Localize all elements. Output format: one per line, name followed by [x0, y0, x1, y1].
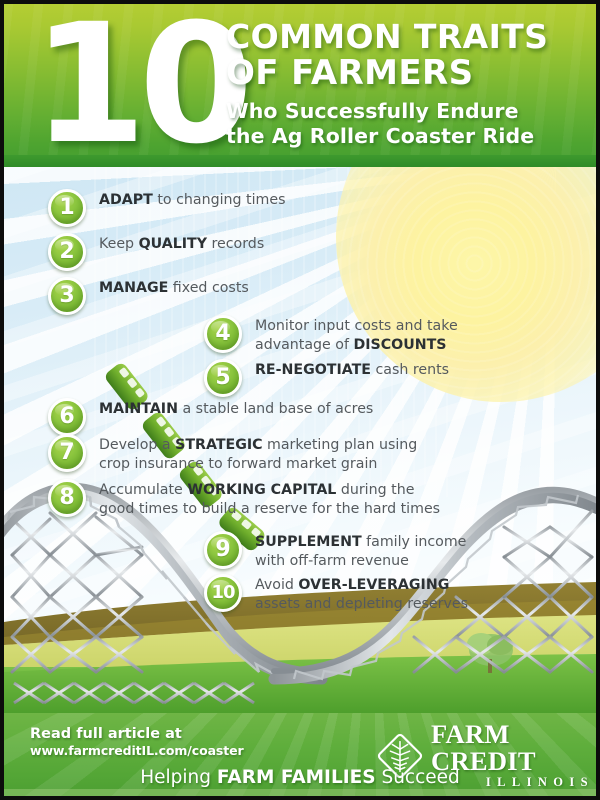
trait-number-badge-10: 10 [204, 574, 242, 612]
trait-words: with off-farm revenue [255, 553, 409, 569]
tagline-bold: FARM FAMILIES [217, 767, 376, 788]
trait-text-line: assets and depleting reserves [255, 595, 468, 614]
trait-words: during the [336, 482, 414, 498]
trait-words: Monitor input costs and take [255, 318, 458, 334]
poster-header: 10 COMMON TRAITS OF FARMERS Who Successf… [4, 4, 596, 167]
trait-keyword: ADAPT [99, 192, 153, 208]
big-number-ten: 10 [32, 4, 246, 167]
trait-number-badge-1: 1 [48, 189, 86, 227]
trait-words: good times to build a reserve for the ha… [99, 501, 440, 517]
trait-text-5: RE-NEGOTIATE cash rents [255, 359, 449, 380]
page-subtitle-line2: the Ag Roller Coaster Ride [226, 124, 586, 149]
trait-item-5: 5RE-NEGOTIATE cash rents [204, 359, 449, 397]
trait-keyword: DISCOUNTS [353, 337, 446, 353]
tagline: Helping FARM FAMILIES Succeed [4, 767, 596, 788]
trait-item-7: 7Develop a STRATEGIC marketing plan usin… [48, 434, 417, 473]
trait-number-badge-7: 7 [48, 434, 86, 472]
trait-words: family income [362, 534, 467, 550]
trait-number-badge-5: 5 [204, 359, 242, 397]
trait-text-line: Accumulate WORKING CAPITAL during the [99, 481, 440, 500]
trait-number-badge-3: 3 [48, 277, 86, 315]
trait-number-badge-2: 2 [48, 233, 86, 271]
trait-text-3: MANAGE fixed costs [99, 277, 249, 298]
trait-item-6: 6MAINTAIN a stable land base of acres [48, 398, 373, 436]
trait-words: Accumulate [99, 482, 187, 498]
trait-text-line: ADAPT to changing times [99, 191, 285, 210]
page-title-line2: OF FARMERS [226, 55, 586, 92]
trait-text-line: Develop a STRATEGIC marketing plan using [99, 436, 417, 455]
trait-item-1: 1ADAPT to changing times [48, 189, 285, 227]
trait-text-line: Monitor input costs and take [255, 317, 458, 336]
trait-text-6: MAINTAIN a stable land base of acres [99, 398, 373, 419]
trait-words: Develop a [99, 437, 175, 453]
trait-text-7: Develop a STRATEGIC marketing plan using… [99, 434, 417, 473]
trait-text-9: SUPPLEMENT family incomewith off-farm re… [255, 531, 466, 570]
trait-text-line: crop insurance to forward market grain [99, 455, 417, 474]
trait-keyword: MANAGE [99, 280, 168, 296]
poster-footer: Read full article at www.farmcreditIL.co… [4, 713, 596, 796]
trait-words: to changing times [153, 192, 286, 208]
page-subtitle-line1: Who Successfully Endure [226, 99, 586, 124]
trait-text-line: RE-NEGOTIATE cash rents [255, 361, 449, 380]
trait-text-10: Avoid OVER-LEVERAGINGassets and depletin… [255, 574, 468, 613]
trait-words: a stable land base of acres [178, 401, 373, 417]
trait-text-line: advantage of DISCOUNTS [255, 336, 458, 355]
trait-words: cash rents [371, 362, 449, 378]
trait-words: Avoid [255, 577, 298, 593]
trait-words: assets and depleting reserves [255, 596, 468, 612]
trait-keyword: QUALITY [139, 236, 207, 252]
trait-words: records [207, 236, 264, 252]
trait-keyword: SUPPLEMENT [255, 534, 362, 550]
trait-text-line: good times to build a reserve for the ha… [99, 500, 440, 519]
tagline-suffix: Succeed [376, 767, 460, 788]
trait-item-2: 2Keep QUALITY records [48, 233, 264, 271]
trait-keyword: STRATEGIC [175, 437, 262, 453]
trait-keyword: MAINTAIN [99, 401, 178, 417]
trait-words: crop insurance to forward market grain [99, 456, 377, 472]
trait-text-4: Monitor input costs and takeadvantage of… [255, 315, 458, 354]
trait-words: fixed costs [168, 280, 248, 296]
trait-keyword: RE-NEGOTIATE [255, 362, 371, 378]
trait-text-line: MANAGE fixed costs [99, 279, 249, 298]
article-url-link[interactable]: www.farmcreditIL.com/coaster [30, 743, 244, 759]
trait-text-2: Keep QUALITY records [99, 233, 264, 254]
infographic-poster: 10 COMMON TRAITS OF FARMERS Who Successf… [0, 0, 600, 800]
trait-keyword: OVER-LEVERAGING [298, 577, 449, 593]
tagline-prefix: Helping [140, 767, 217, 788]
trait-number-badge-4: 4 [204, 315, 242, 353]
read-article-block[interactable]: Read full article at www.farmcreditIL.co… [30, 726, 244, 759]
poster-body: 1ADAPT to changing times2Keep QUALITY re… [4, 167, 596, 713]
trait-text-line: MAINTAIN a stable land base of acres [99, 400, 373, 419]
trait-words: advantage of [255, 337, 353, 353]
trait-words: marketing plan using [263, 437, 418, 453]
trait-item-10: 10Avoid OVER-LEVERAGINGassets and deplet… [204, 574, 468, 613]
trait-keyword: WORKING CAPITAL [187, 482, 336, 498]
trait-number-badge-6: 6 [48, 398, 86, 436]
trait-text-line: SUPPLEMENT family income [255, 533, 466, 552]
trait-number-badge-8: 8 [48, 479, 86, 517]
trait-item-3: 3MANAGE fixed costs [48, 277, 249, 315]
trait-words: Keep [99, 236, 139, 252]
trait-item-9: 9SUPPLEMENT family incomewith off-farm r… [204, 531, 466, 570]
header-bottom-band [4, 155, 596, 167]
trait-text-line: Keep QUALITY records [99, 235, 264, 254]
trait-number-badge-9: 9 [204, 531, 242, 569]
page-title-line1: COMMON TRAITS [226, 18, 586, 55]
trait-text-line: with off-farm revenue [255, 552, 466, 571]
trait-text-1: ADAPT to changing times [99, 189, 285, 210]
trait-text-8: Accumulate WORKING CAPITAL during thegoo… [99, 479, 440, 518]
trait-text-line: Avoid OVER-LEVERAGING [255, 576, 468, 595]
trait-item-8: 8Accumulate WORKING CAPITAL during thego… [48, 479, 440, 518]
title-block: COMMON TRAITS OF FARMERS Who Successfull… [226, 18, 586, 149]
trait-item-4: 4Monitor input costs and takeadvantage o… [204, 315, 458, 354]
footer-bottom-rule [4, 789, 596, 796]
read-article-label: Read full article at [30, 726, 244, 743]
